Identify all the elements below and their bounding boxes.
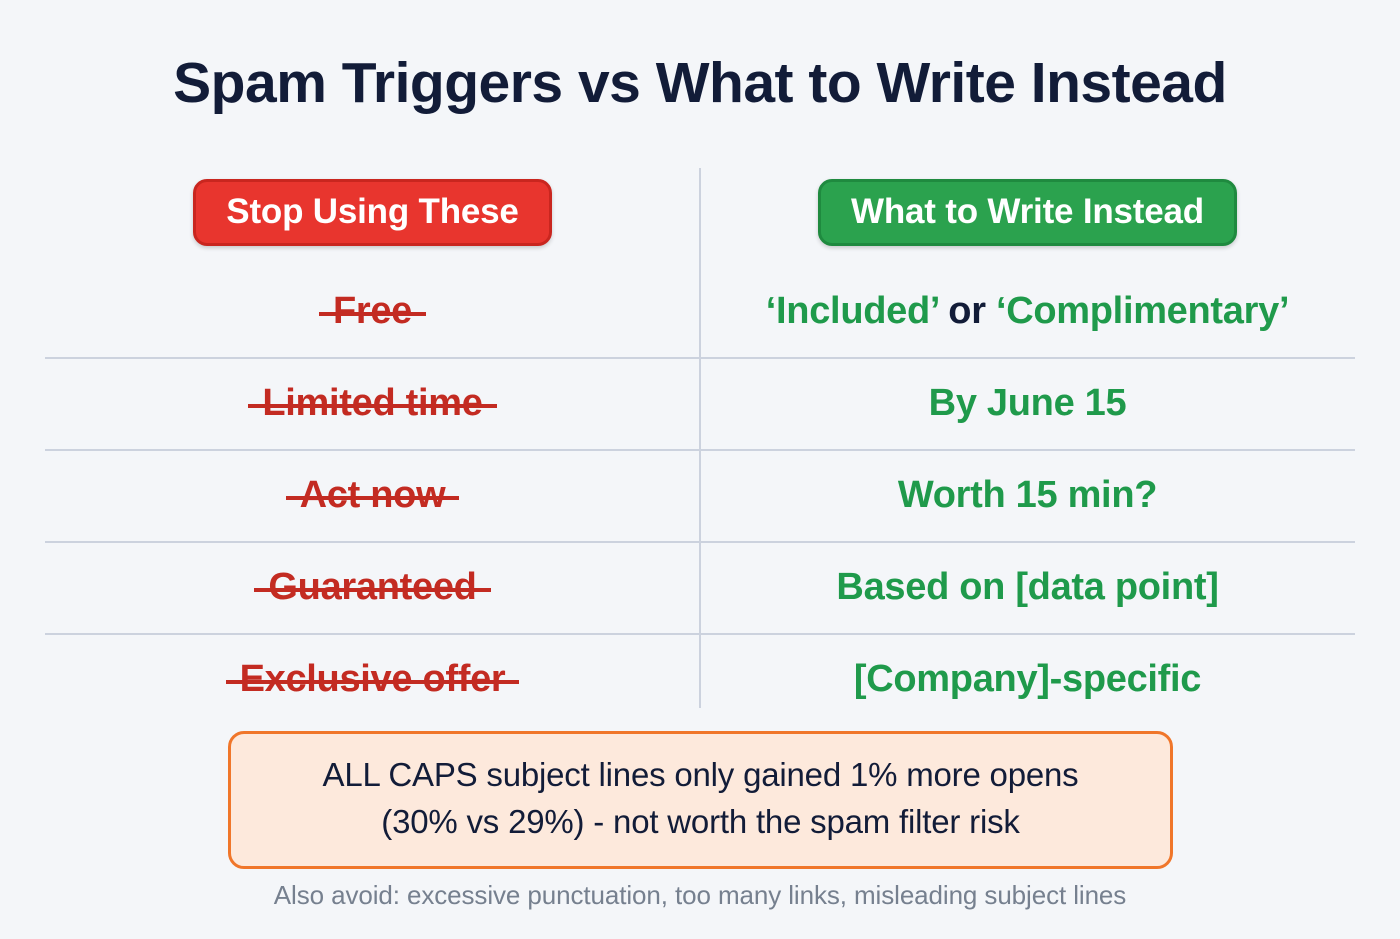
stat-callout-box: ALL CAPS subject lines only gained 1% mo… [228,731,1173,869]
good-phrase: Worth 15 min? [898,474,1157,517]
bad-phrase-cell: Free [45,290,700,333]
good-phrase-part: ‘Included’ [766,290,938,332]
good-phrase-cell: Worth 15 min? [700,474,1355,517]
bad-header-cell: Stop Using These [45,179,700,246]
table-row: Act now Worth 15 min? [45,449,1355,541]
bad-phrase-cell: Guaranteed [45,566,700,609]
bad-phrase-strikethrough: Act now [286,474,460,517]
table-row: Limited time By June 15 [45,357,1355,449]
table-row: Free ‘Included’ or ‘Complimentary’ [45,265,1355,357]
bad-phrase-cell: Exclusive offer [45,658,700,701]
what-to-write-instead-badge: What to Write Instead [818,179,1237,246]
callout-line-1: ALL CAPS subject lines only gained 1% mo… [251,752,1150,799]
good-phrase-part: By June 15 [929,382,1127,424]
good-header-cell: What to Write Instead [700,179,1355,246]
good-phrase: By June 15 [929,382,1127,425]
bad-phrase-strikethrough: Free [319,290,426,333]
bad-phrase-strikethrough: Guaranteed [254,566,490,609]
good-phrase-part: Based on [data point] [836,566,1218,608]
footer-note: Also avoid: excessive punctuation, too m… [0,880,1400,911]
bad-phrase-strikethrough: Limited time [248,382,496,425]
infographic-root: Spam Triggers vs What to Write Instead S… [0,0,1400,939]
good-phrase-part: or [938,290,996,332]
good-phrase-cell: Based on [data point] [700,566,1355,609]
good-phrase-part: Worth 15 min? [898,474,1157,516]
table-row: Exclusive offer [Company]-specific [45,633,1355,725]
good-phrase: Based on [data point] [836,566,1218,609]
bad-phrase-cell: Act now [45,474,700,517]
stop-using-these-badge: Stop Using These [193,179,551,246]
bad-phrase-cell: Limited time [45,382,700,425]
bad-phrase-strikethrough: Exclusive offer [226,658,520,701]
callout-line-2: (30% vs 29%) - not worth the spam filter… [251,799,1150,846]
table-row: Guaranteed Based on [data point] [45,541,1355,633]
good-phrase-part: [Company]-specific [854,658,1201,700]
good-phrase: ‘Included’ or ‘Complimentary’ [766,290,1289,333]
page-title: Spam Triggers vs What to Write Instead [0,52,1400,115]
good-phrase-cell: ‘Included’ or ‘Complimentary’ [700,290,1355,333]
table-header-row: Stop Using These What to Write Instead [45,160,1355,265]
good-phrase-part: ‘Complimentary’ [996,290,1289,332]
good-phrase: [Company]-specific [854,658,1201,701]
good-phrase-cell: [Company]-specific [700,658,1355,701]
good-phrase-cell: By June 15 [700,382,1355,425]
comparison-table: Stop Using These What to Write Instead F… [45,160,1355,715]
